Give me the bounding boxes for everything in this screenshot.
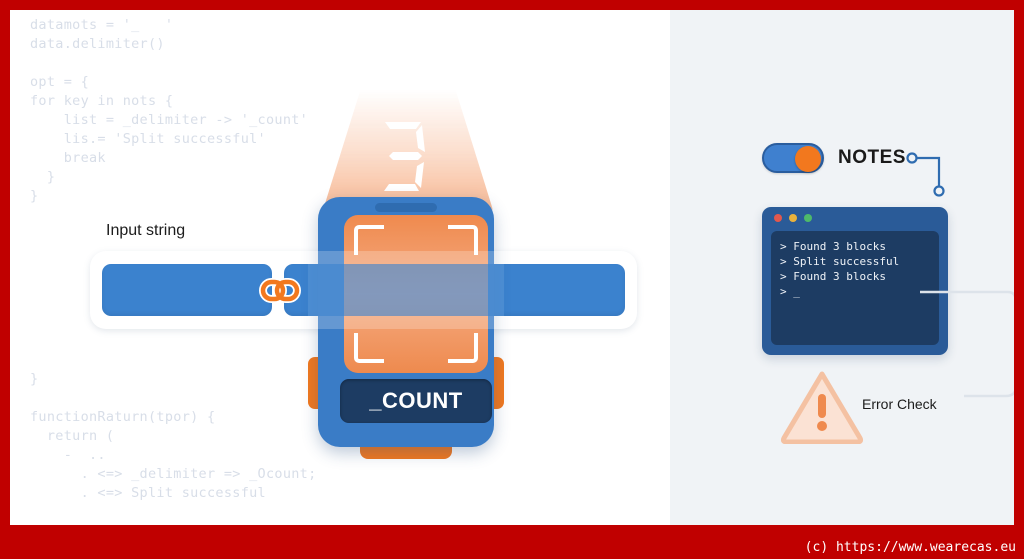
notes-label: NOTES bbox=[838, 147, 906, 169]
window-close-dot[interactable] bbox=[774, 214, 782, 222]
code-snippet-top: datamots = '_ ' data.delimiter() opt = {… bbox=[30, 16, 650, 206]
toggle-knob bbox=[795, 146, 821, 172]
illustration-canvas: datamots = '_ ' data.delimiter() opt = {… bbox=[10, 10, 1014, 525]
code-snippet-bottom: } functionRaturn(tpor) { return ( - .. .… bbox=[30, 370, 650, 503]
screenshot-frame: datamots = '_ ' data.delimiter() opt = {… bbox=[0, 0, 1024, 559]
window-minimize-dot[interactable] bbox=[789, 214, 797, 222]
terminal-line: > Found 3 blocks bbox=[780, 269, 939, 284]
notes-toggle[interactable] bbox=[762, 143, 824, 173]
warning-triangle-icon bbox=[780, 368, 864, 444]
notes-toggle-row: NOTES bbox=[762, 143, 906, 173]
left-code-panel: datamots = '_ ' data.delimiter() opt = {… bbox=[10, 10, 670, 525]
node-connector-icon bbox=[906, 150, 950, 198]
terminal-line: > Split successful bbox=[780, 254, 939, 269]
terminal-line: > Found 3 blocks bbox=[780, 239, 939, 254]
error-check-label: Error Check bbox=[862, 396, 937, 412]
terminal-to-error-connector bbox=[920, 290, 1014, 400]
watermark: (c) https://www.wearecas.eu bbox=[805, 540, 1016, 555]
terminal-output: > Found 3 blocks > Split successful > Fo… bbox=[771, 231, 939, 345]
terminal-title-bar bbox=[762, 207, 948, 229]
right-notes-panel: NOTES > Found 3 blocks > Split successfu… bbox=[670, 10, 1014, 525]
terminal-line: > _ bbox=[780, 284, 939, 299]
window-maximize-dot[interactable] bbox=[804, 214, 812, 222]
